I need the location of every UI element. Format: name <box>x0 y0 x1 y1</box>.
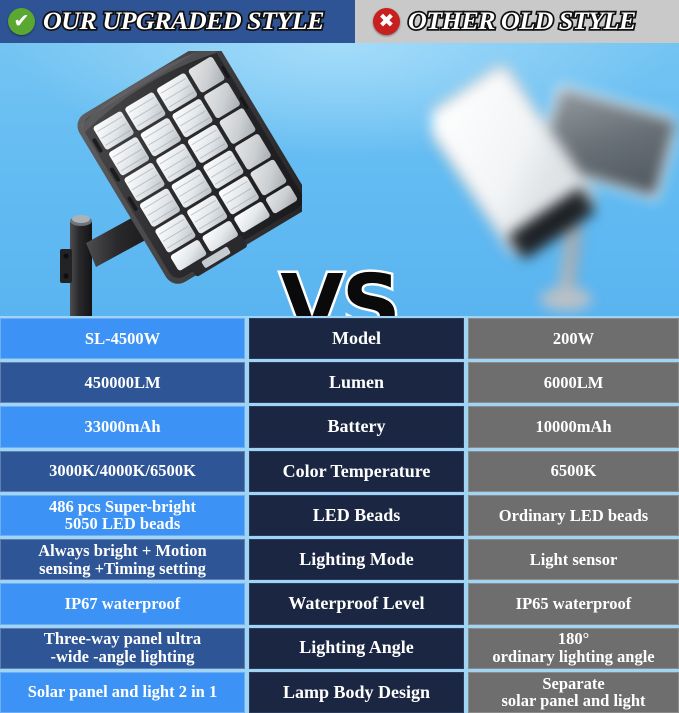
table-row: 450000LM Lumen 6000LM <box>0 362 679 403</box>
cell-ours: Solar panel and light 2 in 1 <box>0 672 245 713</box>
cell-spec: Lumen <box>249 362 464 403</box>
cell-ours: IP67 waterproof <box>0 583 245 624</box>
cell-spec: Lighting Angle <box>249 628 464 669</box>
cell-theirs: 6000LM <box>468 362 679 403</box>
cell-theirs: 180° ordinary lighting angle <box>468 628 679 669</box>
cell-ours: SL-4500W <box>0 318 245 359</box>
cell-spec: Model <box>249 318 464 359</box>
header-theirs-label: OTHER OLD STYLE <box>408 8 636 36</box>
cell-ours: 486 pcs Super-bright 5050 LED beads <box>0 495 245 536</box>
header-theirs: ✖ OTHER OLD STYLE <box>355 0 679 43</box>
cell-theirs: IP65 waterproof <box>468 583 679 624</box>
product-image-upgraded <box>52 51 302 316</box>
cell-theirs: Ordinary LED beads <box>468 495 679 536</box>
check-circle-icon: ✔ <box>8 8 35 35</box>
comparison-table: SL-4500W Model 200W 450000LM Lumen 6000L… <box>0 316 679 713</box>
cell-theirs: 200W <box>468 318 679 359</box>
cross-circle-icon: ✖ <box>373 8 400 35</box>
cell-ours: Three-way panel ultra -wide -angle light… <box>0 628 245 669</box>
table-row: Three-way panel ultra -wide -angle light… <box>0 628 679 669</box>
table-row: 33000mAh Battery 10000mAh <box>0 406 679 447</box>
vs-label: VS <box>280 265 399 316</box>
cell-ours: 450000LM <box>0 362 245 403</box>
cell-spec: Battery <box>249 406 464 447</box>
cell-spec: Waterproof Level <box>249 583 464 624</box>
cell-theirs: Separate solar panel and light <box>468 672 679 713</box>
header-ours-label: OUR UPGRADED STYLE <box>43 8 324 36</box>
cell-ours: 3000K/4000K/6500K <box>0 451 245 492</box>
cell-spec: Lighting Mode <box>249 539 464 580</box>
table-row: Always bright + Motion sensing +Timing s… <box>0 539 679 580</box>
cell-theirs: Light sensor <box>468 539 679 580</box>
product-comparison-page: ✔ OUR UPGRADED STYLE ✖ OTHER OLD STYLE <box>0 0 679 713</box>
table-row: 3000K/4000K/6500K Color Temperature 6500… <box>0 451 679 492</box>
header-ours: ✔ OUR UPGRADED STYLE <box>0 0 355 43</box>
table-row: Solar panel and light 2 in 1 Lamp Body D… <box>0 672 679 713</box>
cell-spec: Color Temperature <box>249 451 464 492</box>
table-row: 486 pcs Super-bright 5050 LED beads LED … <box>0 495 679 536</box>
table-row: IP67 waterproof Waterproof Level IP65 wa… <box>0 583 679 624</box>
cell-ours: 33000mAh <box>0 406 245 447</box>
cell-spec: Lamp Body Design <box>249 672 464 713</box>
comparison-header-bar: ✔ OUR UPGRADED STYLE ✖ OTHER OLD STYLE <box>0 0 679 43</box>
cell-theirs: 6500K <box>468 451 679 492</box>
hero-photo-area: VS <box>0 43 679 316</box>
cell-theirs: 10000mAh <box>468 406 679 447</box>
cell-ours: Always bright + Motion sensing +Timing s… <box>0 539 245 580</box>
table-row: SL-4500W Model 200W <box>0 318 679 359</box>
cell-spec: LED Beads <box>249 495 464 536</box>
product-image-old <box>432 47 676 311</box>
